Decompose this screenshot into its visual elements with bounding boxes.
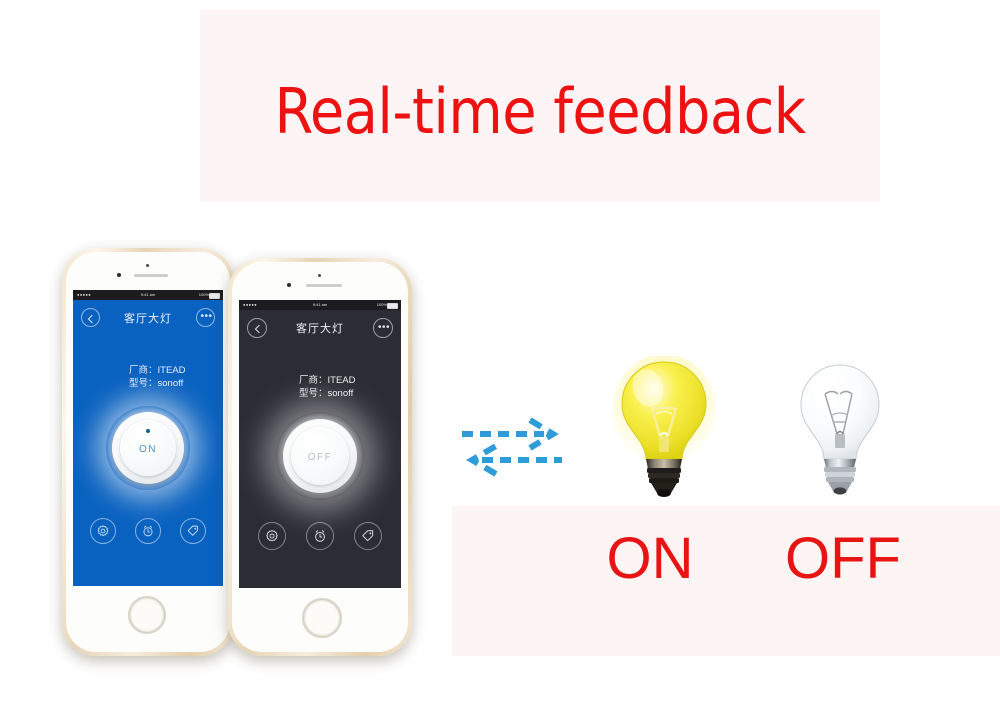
device-vendor-line-on: 厂商：ITEAD (129, 364, 185, 377)
action-settings-off[interactable] (258, 522, 286, 550)
battery-percent: 100% (199, 290, 209, 300)
action-tag-on[interactable] (180, 518, 206, 544)
caption-on-label: ON (590, 528, 710, 590)
action-settings-on[interactable] (90, 518, 116, 544)
alarm-clock-icon (142, 525, 155, 538)
device-vendor-line-off: 厂商：ITEAD (299, 374, 355, 387)
gear-icon (97, 525, 110, 538)
phone-front-panel-on: ●●●●● 9:41 am 100% 客厅大灯 ••• 厂商：ITEA (66, 252, 230, 652)
gear-icon (265, 529, 279, 543)
action-timer-on[interactable] (135, 518, 161, 544)
phone-device-off: ●●●●● 9:41 am 100% 客厅大灯 ••• 厂商：ITEA (228, 258, 412, 656)
knob-state-label-off: OFF (291, 452, 349, 463)
front-camera-icon (287, 283, 291, 287)
earpiece-speaker-icon (306, 284, 342, 287)
status-bar-off: ●●●●● 9:41 am 100% (239, 300, 401, 310)
phone-screen-off: ●●●●● 9:41 am 100% 客厅大灯 ••• 厂商：ITEA (239, 300, 401, 588)
device-model-line-on: 型号：sonoff (129, 377, 183, 390)
knob-state-label-on: ON (120, 444, 176, 455)
home-button-on[interactable] (128, 596, 166, 634)
action-tag-off[interactable] (354, 522, 382, 550)
alarm-clock-icon (313, 529, 327, 543)
proximity-sensor-icon (146, 264, 149, 267)
phone-front-panel-off: ●●●●● 9:41 am 100% 客厅大灯 ••• 厂商：ITEA (232, 262, 408, 652)
device-model-line-off: 型号：sonoff (299, 387, 353, 400)
power-knob-on[interactable]: ON (106, 406, 190, 490)
lightbulb-on (612, 356, 716, 500)
battery-full-icon (387, 303, 398, 309)
caption-off-label: OFF (768, 528, 918, 590)
tag-icon (361, 529, 375, 543)
knob-face-on: ON (120, 420, 176, 476)
more-horizontal-icon: ••• (378, 323, 390, 333)
lightbulb-unlit-icon (792, 360, 888, 498)
battery-full-icon (209, 293, 220, 299)
dashed-arrow-left-icon (472, 446, 562, 474)
page-root: Real-time feedback ON OFF ●●●●● 9:41 am … (0, 0, 1000, 705)
tag-icon (187, 525, 200, 538)
proximity-sensor-icon (318, 274, 321, 277)
knob-face-off: OFF (291, 427, 349, 485)
led-indicator-icon-on (146, 429, 150, 433)
more-button-on[interactable]: ••• (196, 308, 215, 327)
page-title: Real-time feedback (200, 76, 880, 148)
action-timer-off[interactable] (306, 522, 334, 550)
dashed-arrow-right-icon (462, 420, 553, 448)
more-horizontal-icon: ••• (201, 312, 213, 322)
lightbulb-off (792, 360, 888, 498)
more-button-off[interactable]: ••• (373, 318, 393, 338)
phone-device-on: ●●●●● 9:41 am 100% 客厅大灯 ••• 厂商：ITEA (62, 248, 234, 656)
nav-bar-off: 客厅大灯 ••• (239, 312, 401, 342)
status-bar-on: ●●●●● 9:41 am 100% (73, 290, 223, 300)
front-camera-icon (117, 273, 121, 277)
home-button-off[interactable] (302, 598, 342, 638)
lightbulb-lit-icon (612, 356, 716, 500)
nav-bar-on: 客厅大灯 ••• (73, 302, 223, 332)
phone-screen-on: ●●●●● 9:41 am 100% 客厅大灯 ••• 厂商：ITEA (73, 290, 223, 586)
battery-percent: 100% (377, 300, 387, 310)
flow-arrows (456, 412, 576, 484)
power-knob-off[interactable]: OFF (276, 412, 364, 500)
earpiece-speaker-icon (134, 274, 168, 277)
